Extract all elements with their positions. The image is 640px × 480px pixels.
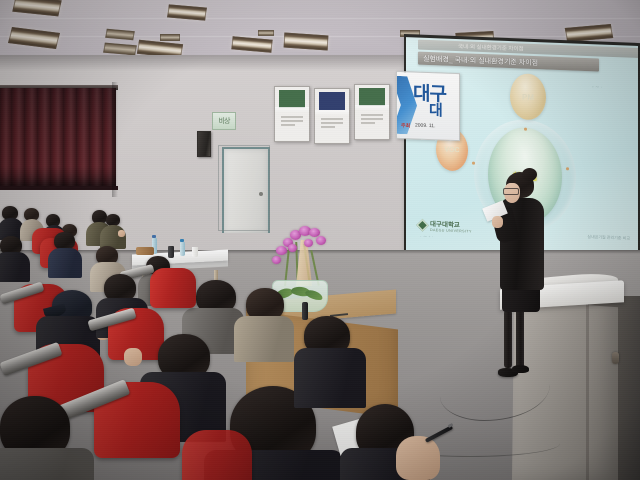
audience-hand [124, 348, 142, 366]
orchid-bloom [272, 256, 281, 264]
diagram-bubble-pm-label: PM [522, 92, 534, 101]
door-frame [218, 145, 270, 231]
diagram-node-dot [566, 167, 569, 170]
ceiling-light-fixture [105, 29, 135, 40]
logo-english-name: DAEGU UNIVERSITY [430, 228, 472, 234]
orchid-bloom [288, 244, 297, 252]
ceiling-light-fixture [231, 36, 272, 52]
podium-latch-icon[interactable] [612, 352, 619, 364]
event-banner: 대구 대 주최 2009. 11. [396, 71, 460, 141]
presenter-shoe [512, 365, 529, 373]
lecture-hall-photo: 비상 국내·외 실내환경기준 차이점 실험배경_ 국내·외 실내환경기준 차이점… [0, 0, 640, 480]
stage-curtain [0, 88, 116, 188]
slide-footnote: 실내공기질 관리기준 비교 [587, 234, 630, 242]
diagram-bubble-pm: PM [510, 73, 546, 120]
snack-tray [136, 247, 154, 255]
exit-sign: 비상 [212, 112, 236, 130]
diagram-bubble-voc-label: VOC [444, 146, 459, 154]
ceiling-light-fixture [565, 24, 613, 42]
slide-title-text: 실험배경_ 국내·외 실내환경기준 차이점 [423, 53, 538, 67]
paper-cup [192, 247, 198, 257]
orchid-bloom [276, 246, 287, 255]
door-handle-icon[interactable] [259, 192, 263, 196]
slide-subtitle-text: 국내·외 실내환경기준 차이점 [458, 42, 524, 53]
diagram-node-dot [524, 128, 527, 131]
wall-corner-shadow [112, 82, 118, 197]
diagram-node-dot [472, 162, 475, 165]
slide-university-logo: 대구대학교 DAEGU UNIVERSITY [418, 218, 472, 234]
glasses-icon [503, 188, 519, 195]
stage-microphone [302, 302, 308, 320]
wall-speaker-icon [197, 131, 211, 157]
audience-torso [234, 316, 294, 362]
audience-torso [48, 248, 82, 278]
banner-org-tag: 주최 [401, 122, 410, 129]
banner-line-2: 대 [429, 99, 443, 120]
audience-torso [294, 348, 366, 408]
slide-background-mark: ◦ ∼ · [592, 84, 602, 90]
orchid-bloom [304, 239, 313, 247]
curtain-hem [0, 186, 118, 190]
ceiling-light-fixture [8, 27, 60, 49]
auditorium-seat[interactable] [182, 430, 252, 480]
ceiling-light-fixture [12, 0, 61, 16]
wall-poster [274, 86, 310, 142]
presenter-hand [492, 216, 503, 228]
banner-date: 2009. 11. [415, 123, 435, 130]
exit-sign-label: 비상 [219, 116, 230, 126]
podium-edge [586, 300, 589, 480]
bottle-cap-icon [152, 235, 156, 238]
ceiling-light-fixture [160, 34, 180, 41]
audience-torso [0, 252, 30, 282]
beverage-can [168, 246, 174, 258]
ceiling-light-fixture [258, 30, 274, 36]
audience-torso [0, 448, 94, 480]
auditorium-seat[interactable] [150, 268, 196, 308]
logo-diamond-icon [416, 218, 429, 231]
ceiling-light-fixture [103, 43, 137, 56]
slide-background-mark: · ∼ ◦ · [420, 234, 433, 241]
foreground-hand [396, 436, 440, 480]
orchid-bloom [316, 236, 326, 245]
ceiling-light-fixture [284, 32, 329, 50]
wall-poster [314, 88, 350, 144]
water-bottle [180, 242, 185, 256]
bottle-cap-icon [180, 239, 184, 242]
presenter-hair-bun [522, 168, 537, 181]
wall-poster [354, 84, 390, 140]
presenter [492, 172, 562, 382]
audience-hand [118, 230, 125, 237]
